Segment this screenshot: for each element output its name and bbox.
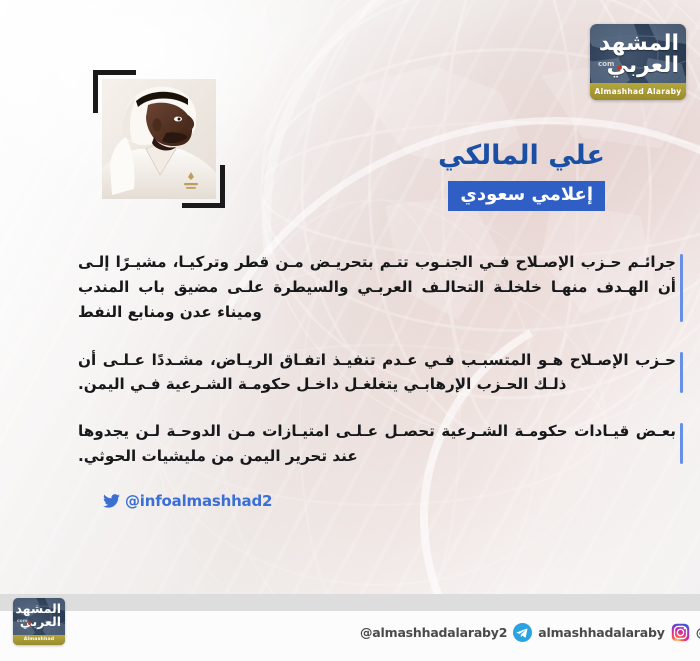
twitter-watermark-handle: @infoalmashhad2 <box>125 492 272 510</box>
quote-block: حـزب الإصـلاح هـو المتسبـب فـي عـدم تنفي… <box>0 348 700 397</box>
quote-card: المشهد العربي com Almashhad Alaraby <box>0 0 700 661</box>
quote-text: جرائـم حـزب الإصـلاح فـي الجنـوب تتـم بت… <box>78 250 676 326</box>
brand-logo-line1: المشهد <box>599 33 679 55</box>
footer-brand-logo: المشهد العربي com Almashhad Alaraby <box>13 598 65 645</box>
quote-block: جرائـم حـزب الإصـلاح فـي الجنـوب تتـم بت… <box>0 250 700 326</box>
quote-accent-bar <box>680 423 683 464</box>
quote-text: بعـض قيـادات حكومـة الشـرعية تحصـل عـلـى… <box>78 419 676 468</box>
person-name: علي المالكي <box>438 140 605 171</box>
twitter-bird-icon <box>103 494 120 508</box>
quote-text: حـزب الإصـلاح هـو المتسبـب فـي عـدم تنفي… <box>78 348 676 397</box>
brand-logo-red-dot <box>617 65 622 70</box>
quote-accent-bar <box>680 254 683 322</box>
person-role-badge: إعلامي سعودي <box>448 181 605 211</box>
brand-logo-dotcom: com <box>598 60 614 68</box>
footer-logo-latin: Almashhad Alaraby <box>13 635 65 645</box>
quote-block: بعـض قيـادات حكومـة الشـرعية تحصـل عـلـى… <box>0 419 700 468</box>
portrait-photo <box>102 79 216 199</box>
brand-logo-latin: Almashhad Alaraby <box>590 83 686 100</box>
brand-logo: المشهد العربي com Almashhad Alaraby <box>590 24 686 100</box>
footer-grey-band <box>0 594 700 611</box>
portrait <box>93 70 225 208</box>
quote-accent-bar <box>680 352 683 393</box>
telegram-icon[interactable] <box>513 623 532 642</box>
footer-logo-red-dot <box>28 622 31 625</box>
twitter-watermark: @infoalmashhad2 <box>103 492 272 510</box>
footer-social-row: @almashhadalaraby2 almashhadalaraby @inf… <box>360 623 700 642</box>
social-handle-twitter[interactable]: @infoalmashhad2 <box>696 625 700 640</box>
footer-logo-dotcom: com <box>17 619 27 624</box>
social-handle-instagram[interactable]: almashhadalaraby <box>538 625 664 640</box>
social-handle-telegram[interactable]: @almashhadalaraby2 <box>360 625 507 640</box>
instagram-icon[interactable] <box>671 623 690 642</box>
quotes-list: جرائـم حـزب الإصـلاح فـي الجنـوب تتـم بت… <box>0 250 700 468</box>
